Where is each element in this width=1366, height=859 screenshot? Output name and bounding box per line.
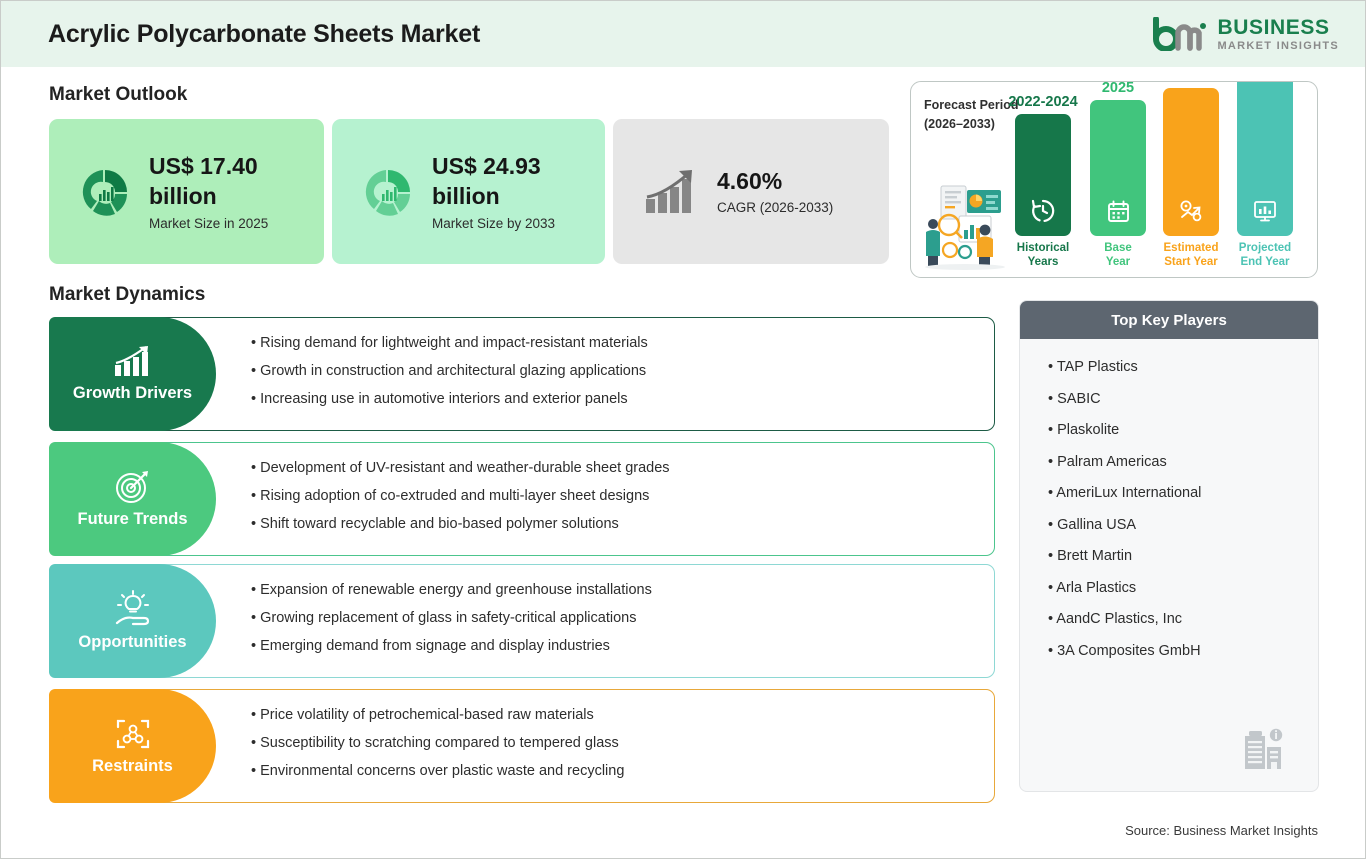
cagr-text: 4.60% CAGR (2026-2033) <box>717 168 833 215</box>
forecast-caption-line1: Base <box>1090 241 1146 255</box>
molecule-scan-icon <box>114 716 152 752</box>
target-dart-icon <box>114 469 152 505</box>
top-key-players-header: Top Key Players <box>1020 301 1318 339</box>
forecast-period-panel: Forecast Period (2026–2033) <box>910 81 1318 278</box>
logo-business-text: BUSINESS <box>1217 17 1339 38</box>
player-list-item: • TAP Plastics <box>1048 359 1318 375</box>
top-key-players-title: Top Key Players <box>1111 312 1227 329</box>
dynamics-pill-restraints: Restraints <box>49 689 216 803</box>
forecast-caption-line2: End Year <box>1237 255 1293 269</box>
dynamics-row-opportunities: Opportunities • Expansion of renewable e… <box>49 564 995 678</box>
dynamics-pill-future-trends: Future Trends <box>49 442 216 556</box>
forecast-bar-projected: 2033 Projected End Year <box>1237 81 1293 269</box>
dynamics-pill-label: Future Trends <box>77 510 187 529</box>
player-list-item: • Gallina USA <box>1048 517 1318 533</box>
forecast-bar-caption: Projected End Year <box>1237 241 1293 269</box>
history-clock-icon <box>1030 198 1056 224</box>
dynamics-pill-label: Restraints <box>92 757 173 776</box>
dynamics-bullet-list: • Price volatility of petrochemical-base… <box>251 707 624 779</box>
forecast-bar-fill <box>1237 81 1293 236</box>
market-dynamics-heading: Market Dynamics <box>49 284 205 306</box>
dynamics-bullet: • Increasing use in automotive interiors… <box>251 391 648 407</box>
player-list-item: • Arla Plastics <box>1048 580 1318 596</box>
top-key-players-panel: Top Key Players • TAP Plastics • SABIC •… <box>1019 300 1319 792</box>
dynamics-bullet: • Price volatility of petrochemical-base… <box>251 707 624 723</box>
presentation-chart-icon <box>1252 198 1278 224</box>
forecast-bar-caption: Estimated Start Year <box>1163 241 1219 269</box>
market-size-2025-label: Market Size in 2025 <box>149 216 299 231</box>
dynamics-bullet-list: • Expansion of renewable energy and gree… <box>251 582 652 654</box>
growth-arrow-chart-icon <box>643 167 701 217</box>
forecast-caption-line2: Start Year <box>1163 255 1219 269</box>
bmi-logo-icon <box>1152 17 1208 51</box>
player-list-item: • 3A Composites GmbH <box>1048 643 1318 659</box>
cagr-label: CAGR (2026-2033) <box>717 200 833 215</box>
calendar-icon <box>1106 199 1131 224</box>
market-outlook-heading: Market Outlook <box>49 84 187 106</box>
dynamics-bullet-list: • Development of UV-resistant and weathe… <box>251 460 670 532</box>
lightbulb-hand-icon <box>113 590 153 628</box>
market-size-2033-label: Market Size by 2033 <box>432 216 582 231</box>
forecast-label-line2: (2026–2033) <box>924 115 1018 134</box>
donut-chart-icon <box>77 164 133 220</box>
player-list-item: • Palram Americas <box>1048 454 1318 470</box>
forecast-bar-year: 2025 <box>1090 81 1146 96</box>
dynamics-bullet: • Rising demand for lightweight and impa… <box>251 335 648 351</box>
bar-chart-growth-icon <box>113 345 153 379</box>
company-building-info-icon <box>1242 727 1288 771</box>
market-size-2025-text: US$ 17.40 billion Market Size in 2025 <box>149 152 299 231</box>
dynamics-bullet: • Environmental concerns over plastic wa… <box>251 763 624 779</box>
forecast-bar-caption: Historical Years <box>1015 241 1071 269</box>
market-size-2033-value: US$ 24.93 billion <box>432 152 582 211</box>
logo-wordmark: BUSINESS MARKET INSIGHTS <box>1217 17 1339 52</box>
cagr-value: 4.60% <box>717 168 833 195</box>
forecast-bar-historical: 2022-2024 Historical Years <box>1015 94 1071 269</box>
player-list-item: • AandC Plastics, Inc <box>1048 611 1318 627</box>
forecast-caption-line1: Estimated <box>1163 241 1219 255</box>
dynamics-pill-label: Opportunities <box>78 633 186 652</box>
market-size-2033-text: US$ 24.93 billion Market Size by 2033 <box>432 152 582 231</box>
top-key-players-list: • TAP Plastics • SABIC • Plaskolite • Pa… <box>1020 339 1318 659</box>
donut-chart-icon <box>360 164 416 220</box>
team-analytics-illustration <box>919 178 1011 270</box>
dynamics-bullet: • Expansion of renewable energy and gree… <box>251 582 652 598</box>
forecast-bar-estimated: 2026 Estimated Start Year <box>1163 81 1219 269</box>
forecast-bar-fill <box>1163 88 1219 236</box>
dynamics-row-restraints: Restraints • Price volatility of petroch… <box>49 689 995 803</box>
player-list-item: • Brett Martin <box>1048 548 1318 564</box>
forecast-bar-caption: Base Year <box>1090 241 1146 269</box>
forecast-caption-line2: Year <box>1090 255 1146 269</box>
dynamics-pill-opportunities: Opportunities <box>49 564 216 678</box>
dynamics-bullet-list: • Rising demand for lightweight and impa… <box>251 335 648 407</box>
dynamics-row-growth-drivers: Growth Drivers • Rising demand for light… <box>49 317 995 431</box>
dynamics-pill-growth-drivers: Growth Drivers <box>49 317 216 431</box>
dynamics-bullet: • Susceptibility to scratching compared … <box>251 735 624 751</box>
dynamics-bullet: • Shift toward recyclable and bio-based … <box>251 516 670 532</box>
dynamics-bullet: • Growth in construction and architectur… <box>251 363 648 379</box>
infographic-page: Acrylic Polycarbonate Sheets Market BUSI… <box>0 0 1366 859</box>
dynamics-row-future-trends: Future Trends • Development of UV-resist… <box>49 442 995 556</box>
forecast-bar-year: 2026 <box>1163 81 1219 84</box>
dynamics-bullet: • Emerging demand from signage and displ… <box>251 638 652 654</box>
page-header: Acrylic Polycarbonate Sheets Market BUSI… <box>1 1 1365 67</box>
dynamics-bullet: • Development of UV-resistant and weathe… <box>251 460 670 476</box>
brand-logo: BUSINESS MARKET INSIGHTS <box>1152 17 1339 52</box>
player-list-item: • Plaskolite <box>1048 422 1318 438</box>
dynamics-bullet: • Rising adoption of co-extruded and mul… <box>251 488 670 504</box>
player-list-item: • SABIC <box>1048 391 1318 407</box>
forecast-bar-fill <box>1015 114 1071 236</box>
forecast-bar-year: 2022-2024 <box>997 94 1089 110</box>
cagr-card: 4.60% CAGR (2026-2033) <box>613 119 889 264</box>
player-list-item: • AmeriLux International <box>1048 485 1318 501</box>
dynamics-bullet: • Growing replacement of glass in safety… <box>251 610 652 626</box>
logo-subtitle-text: MARKET INSIGHTS <box>1217 41 1339 52</box>
dynamics-pill-label: Growth Drivers <box>73 384 192 403</box>
forecast-caption-line2: Years <box>1015 255 1071 269</box>
forecast-bar-fill <box>1090 100 1146 236</box>
forecast-caption-line1: Projected <box>1237 241 1293 255</box>
market-size-2033-card: US$ 24.93 billion Market Size by 2033 <box>332 119 605 264</box>
forecast-caption-line1: Historical <box>1015 241 1071 255</box>
market-size-2025-value: US$ 17.40 billion <box>149 152 299 211</box>
forecast-bar-base: 2025 Base Year <box>1090 81 1146 269</box>
page-title: Acrylic Polycarbonate Sheets Market <box>48 20 480 49</box>
market-size-2025-card: US$ 17.40 billion Market Size in 2025 <box>49 119 324 264</box>
source-note: Source: Business Market Insights <box>1125 823 1318 838</box>
settings-growth-icon <box>1178 198 1204 224</box>
